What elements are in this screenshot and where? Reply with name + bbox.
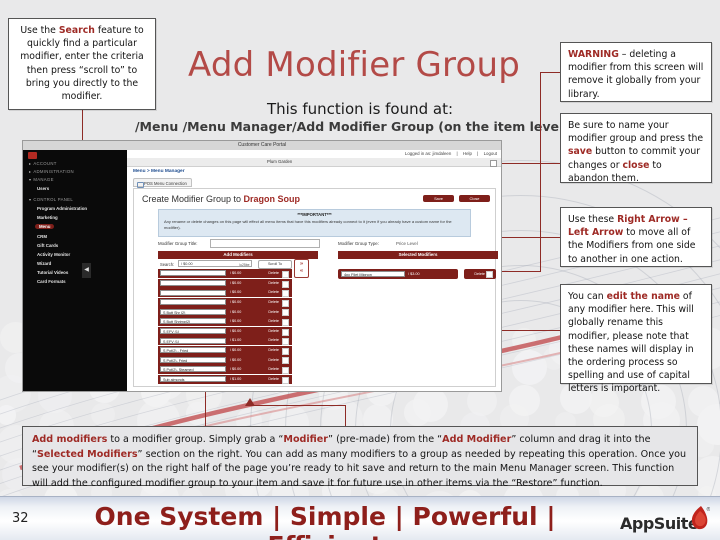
modifier-price: / $0.00 — [230, 348, 241, 352]
delete-label[interactable]: Delete — [268, 281, 279, 285]
separator: | — [477, 151, 478, 156]
warning-callout: WARNING – deleting a modifier from this … — [560, 42, 712, 102]
modifier-name-input[interactable] — [160, 270, 226, 276]
panel-heading-target: Dragon Soup — [244, 194, 301, 204]
delete-label[interactable]: Delete — [268, 367, 279, 371]
chevron-right-icon: ▸ — [29, 169, 31, 174]
delete-checkbox[interactable] — [486, 271, 493, 278]
group-type-label: Modifier Group Type: — [338, 241, 379, 246]
logged-in-label: Logged in as: jimdaleen — [405, 151, 451, 156]
connector-bottom-arrow2 — [245, 398, 255, 406]
sidebar-item-program-administration[interactable]: Program Administration — [37, 206, 87, 211]
delete-label[interactable]: Delete — [268, 300, 279, 304]
app-main-area: Logged in as: jimdaleen | Help | Logout … — [127, 150, 501, 391]
create-modifier-group-panel: Create Modifier Group to Dragon Soup Sav… — [133, 188, 496, 387]
modifier-name-input[interactable]: S EFV (1) — [160, 338, 226, 344]
sidebar-item-crm[interactable]: CRM — [37, 234, 47, 239]
delete-checkbox[interactable] — [282, 348, 289, 355]
selected-modifiers-header: Selected Modifiers — [338, 251, 498, 259]
delete-label[interactable]: Delete — [268, 310, 279, 314]
sidebar-collapse-toggle[interactable]: ◀ — [82, 263, 91, 278]
scroll-to-button[interactable]: Scroll To — [258, 260, 292, 269]
modifier-name-input[interactable]: S EFV (1) — [160, 328, 226, 334]
sidebar-item-marketing[interactable]: Marketing — [37, 215, 58, 220]
flame-icon: ® — [684, 505, 710, 533]
connector-bottom-h — [250, 405, 346, 406]
close-button[interactable]: Close — [459, 195, 490, 202]
chevron-down-icon: ▾ — [29, 197, 31, 202]
modifier-name-input[interactable]: Sub almonds — [160, 376, 226, 382]
sidebar-section-label: ADMINISTRATION — [33, 169, 74, 174]
group-type-value: Price Level — [396, 241, 418, 246]
important-heading: ***IMPORTANT*** — [159, 212, 470, 217]
modifier-price: / $0.00 — [230, 358, 241, 362]
svg-text:®: ® — [706, 506, 710, 513]
navigation-path: /Menu /Menu Manager/Add Modifier Group (… — [72, 119, 632, 134]
delete-label[interactable]: Delete — [474, 272, 485, 276]
modifier-row[interactable]: S EFV (1)/ $1.00Delete — [158, 336, 292, 345]
group-title-label: Modifier Group Title: — [158, 241, 198, 246]
chevron-right-icon: ▸ — [29, 161, 31, 166]
modifier-name-input[interactable]: S Pot(2)- Steamed — [160, 366, 226, 372]
delete-checkbox[interactable] — [282, 329, 289, 336]
delete-label[interactable]: Delete — [268, 358, 279, 362]
delete-label[interactable]: Delete — [268, 319, 279, 323]
background-circle — [91, 403, 114, 426]
store-name: Plum Garden — [267, 159, 292, 164]
sidebar-item-menu[interactable]: Menu — [35, 224, 54, 229]
delete-label[interactable]: Delete — [268, 348, 279, 352]
selected-modifier-delete[interactable]: Delete — [464, 269, 496, 279]
modifier-row[interactable]: / $0.00Delete — [158, 279, 292, 288]
delete-label[interactable]: Delete — [268, 329, 279, 333]
arrow-buttons-callout: Use these Right Arrow – Left Arrow to mo… — [560, 207, 712, 267]
modifier-name-input[interactable] — [160, 290, 226, 296]
modifier-row[interactable]: S Pot(2) - Fried/ $0.00Delete — [158, 346, 292, 355]
modifier-price: / $1.00 — [230, 377, 241, 381]
chevron-down-icon: \u25be — [239, 262, 249, 269]
connector-warning-v — [540, 72, 541, 272]
move-right-icon[interactable]: » — [295, 261, 308, 267]
modifier-price: / $0.00 — [230, 281, 241, 285]
connector-warning-h1 — [540, 72, 562, 73]
breadcrumb[interactable]: Menu > Menu Manager — [133, 169, 185, 174]
link-icon — [137, 182, 144, 188]
modifier-name-input[interactable]: S Pot(2) - Fried — [160, 347, 226, 353]
tab-pos-menu-connection[interactable]: POS Menu Connection — [133, 178, 192, 187]
modifier-row[interactable]: / $0.00Delete — [158, 269, 292, 278]
sidebar-section-manage[interactable]: ▾MANAGE — [29, 177, 54, 182]
modifier-name-input[interactable]: S Butt Shr (2) — [160, 309, 226, 315]
save-button[interactable]: Save — [423, 195, 454, 202]
tab-label: POS Menu Connection — [144, 181, 187, 186]
modifier-price: / $0.00 — [230, 290, 241, 294]
delete-checkbox[interactable] — [282, 367, 289, 374]
search-select[interactable]: / $0.00 \u25be — [178, 260, 252, 267]
sidebar-item-wizard[interactable]: Wizard — [37, 261, 51, 266]
connector-save-h — [497, 163, 561, 164]
delete-label[interactable]: Delete — [268, 290, 279, 294]
sidebar-section-account[interactable]: ▸ACCOUNT — [29, 161, 57, 166]
selected-modifier-row[interactable]: 4pc Filet Mignon/ $3.00 — [338, 269, 458, 279]
modifier-name-input[interactable] — [160, 280, 226, 286]
modifier-row[interactable]: / $0.00Delete — [158, 288, 292, 297]
app-sidebar: ▸ACCOUNT ▸ADMINISTRATION ▾MANAGE Users ▾… — [23, 150, 127, 391]
modifier-row[interactable]: S EFV (1)/ $0.00Delete — [158, 327, 292, 336]
background-circle — [697, 404, 720, 445]
sidebar-section-control-panel[interactable]: ▾CONTROL PANEL — [29, 197, 73, 202]
background-circle — [0, 405, 16, 424]
sidebar-item-tutorial-videos[interactable]: Tutorial Videos — [37, 270, 68, 275]
edit-name-callout: You can edit the name of any modifier he… — [560, 284, 712, 384]
modifier-name-input[interactable]: S Butt Shrimp(2) — [160, 318, 226, 324]
app-screenshot: Customer Care Portal ▸ACCOUNT ▸ADMINISTR… — [22, 140, 502, 392]
modifier-price: / $0.00 — [230, 271, 241, 275]
move-all-buttons: » « — [294, 259, 309, 278]
background-circle — [512, 350, 547, 385]
subtitle: This function is found at: — [150, 100, 570, 118]
group-title-input[interactable] — [210, 239, 320, 248]
move-left-icon[interactable]: « — [295, 268, 308, 274]
search-select-value: / $0.00 — [181, 262, 193, 266]
modifier-row[interactable]: S Butt Shr (2)/ $0.00Delete — [158, 307, 292, 316]
delete-checkbox[interactable] — [282, 338, 289, 345]
page-number: 32 — [12, 511, 29, 526]
panel-heading: Create Modifier Group to Dragon Soup — [142, 194, 300, 204]
delete-checkbox[interactable] — [282, 300, 289, 307]
delete-checkbox[interactable] — [282, 290, 289, 297]
modifier-price: / $0.00 — [230, 329, 241, 333]
modifier-price: / $0.00 — [230, 367, 241, 371]
sidebar-section-label: CONTROL PANEL — [33, 197, 73, 202]
appsuite-logo: AppSuite ® — [620, 505, 712, 535]
background-circle — [688, 386, 719, 417]
store-dropdown-icon[interactable] — [490, 160, 497, 167]
delete-label[interactable]: Delete — [268, 271, 279, 275]
app-header-links: Logged in as: jimdaleen | Help | Logout — [405, 151, 497, 156]
delete-label[interactable]: Delete — [268, 377, 279, 381]
modifier-price: / $1.00 — [230, 338, 241, 342]
chevron-down-icon: ▾ — [29, 177, 31, 182]
sidebar-item-card-formats[interactable]: Card Formats — [37, 279, 66, 284]
important-notice: ***IMPORTANT*** Any rename or delete cha… — [158, 209, 471, 237]
delete-label[interactable]: Delete — [268, 338, 279, 342]
delete-checkbox[interactable] — [282, 281, 289, 288]
modifier-name-input[interactable] — [160, 299, 226, 305]
modifier-price: / $0.00 — [230, 300, 241, 304]
delete-checkbox[interactable] — [282, 357, 289, 364]
delete-checkbox[interactable] — [282, 309, 289, 316]
sidebar-item-users[interactable]: Users — [37, 186, 49, 191]
search-label: Search: — [160, 262, 174, 267]
panel-heading-prefix: Create Modifier Group to — [142, 194, 244, 204]
modifier-price: / $0.00 — [230, 319, 241, 323]
slide-footer: 32 One System | Simple | Powerful | Effi… — [0, 496, 720, 540]
delete-checkbox[interactable] — [282, 319, 289, 326]
selected-modifier-price: / $3.00 — [408, 272, 420, 276]
sidebar-section-label: MANAGE — [33, 177, 53, 182]
background-circle — [509, 385, 540, 416]
modifier-row[interactable]: S Butt Shrimp(2)/ $0.00Delete — [158, 317, 292, 326]
logout-link[interactable]: Logout — [484, 151, 497, 156]
selected-modifier-name-input[interactable]: 4pc Filet Mignon — [341, 271, 405, 277]
modifier-price: / $0.00 — [230, 310, 241, 314]
important-body: Any rename or delete changes on this pag… — [164, 219, 465, 231]
page-title: Add Modifier Group — [168, 45, 540, 85]
sidebar-section-label: ACCOUNT — [33, 161, 56, 166]
add-modifiers-header: Add Modifiers — [158, 251, 318, 259]
save-close-callout: Be sure to name your modifier group and … — [560, 113, 712, 183]
store-selector-bar[interactable]: Plum Garden — [127, 158, 501, 167]
background-circle — [404, 399, 431, 426]
add-modifiers-callout: Add modifiers to a modifier group. Simpl… — [22, 426, 698, 486]
footer-tagline: One System | Simple | Powerful | Efficie… — [60, 502, 590, 540]
sidebar-item-activity-monitor[interactable]: Activity Monitor — [37, 252, 70, 257]
modifier-name-input[interactable]: S Pot(2)- Fried — [160, 357, 226, 363]
sidebar-item-gift-cards[interactable]: Gift Cards — [37, 243, 58, 248]
modifier-row[interactable]: S Pot(2)- Fried/ $0.00Delete — [158, 355, 292, 364]
connector-bottom-v2 — [345, 405, 346, 426]
help-link[interactable]: Help — [463, 151, 472, 156]
slide-canvas: Add Modifier Group This function is foun… — [0, 0, 720, 540]
modifier-row[interactable]: S Pot(2)- Steamed/ $0.00Delete — [158, 365, 292, 374]
search-callout: Use the Search feature to quickly find a… — [8, 18, 156, 110]
sidebar-section-administration[interactable]: ▸ADMINISTRATION — [29, 169, 74, 174]
app-logo-icon — [28, 152, 37, 159]
separator: | — [457, 151, 458, 156]
delete-checkbox[interactable] — [282, 271, 289, 278]
delete-checkbox[interactable] — [282, 377, 289, 384]
modifier-row[interactable]: Sub almonds/ $1.00Delete — [158, 375, 292, 384]
modifier-row[interactable]: / $0.00Delete — [158, 298, 292, 307]
